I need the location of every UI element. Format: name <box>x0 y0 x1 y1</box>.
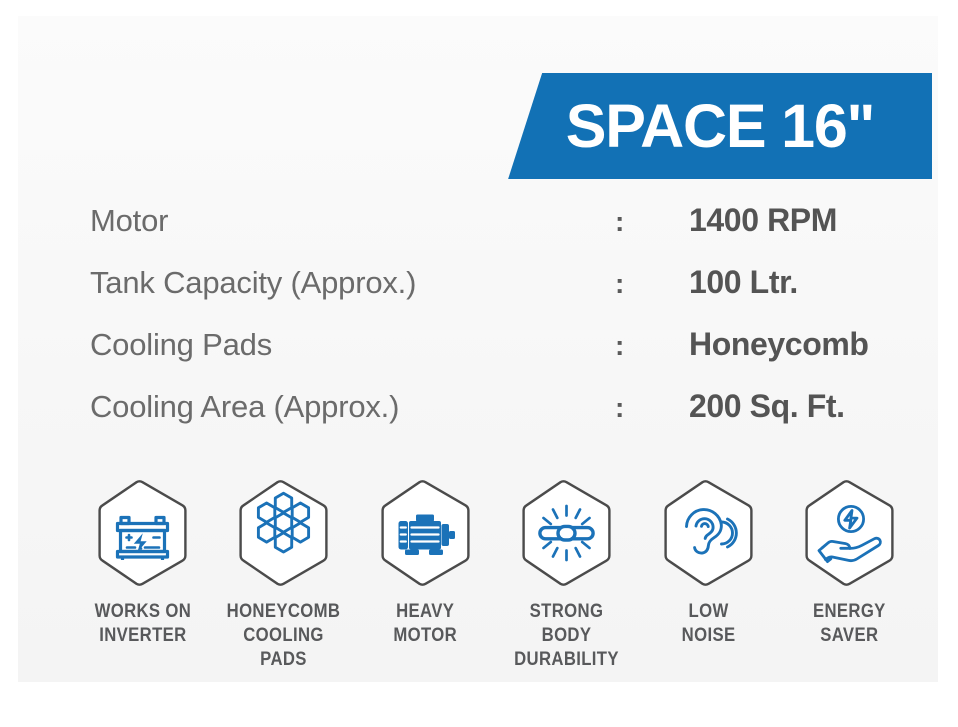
spec-value-cooling-pads: Honeycomb <box>689 326 930 363</box>
feature-strong-body-durability: STRONG BODY DURABILITY <box>500 479 633 671</box>
spec-label-cooling-area: Cooling Area (Approx.) <box>90 389 615 425</box>
feature-label: WORKS ON INVERTER <box>94 600 191 648</box>
spec-separator: : <box>615 330 689 362</box>
feature-works-on-inverter: WORKS ON INVERTER <box>76 479 209 671</box>
battery-inverter-icon <box>93 479 192 587</box>
feature-low-noise: LOW NOISE <box>642 479 775 671</box>
spec-separator: : <box>615 392 689 424</box>
feature-heavy-motor: HEAVY MOTOR <box>359 479 492 671</box>
feature-label: HEAVY MOTOR <box>393 600 457 648</box>
feature-honeycomb-cooling-pads: HONEYCOMB COOLING PADS <box>217 479 350 671</box>
feature-energy-saver: ENERGY SAVER <box>783 479 916 671</box>
feature-badge-row: WORKS ON INVERTER HONE <box>36 479 956 671</box>
spec-value-tank-capacity: 100 Ltr. <box>689 264 930 301</box>
spec-row: Motor : 1400 RPM <box>90 202 930 264</box>
product-title: SPACE 16" <box>490 73 932 179</box>
spec-value-cooling-area: 200 Sq. Ft. <box>689 388 930 425</box>
specification-list: Motor : 1400 RPM Tank Capacity (Approx.)… <box>90 202 930 450</box>
electric-motor-icon <box>376 479 475 587</box>
spec-row: Tank Capacity (Approx.) : 100 Ltr. <box>90 264 930 326</box>
feature-label: LOW NOISE <box>681 600 735 648</box>
spec-label-cooling-pads: Cooling Pads <box>90 327 615 363</box>
spec-separator: : <box>615 268 689 300</box>
ear-sound-icon <box>659 479 758 587</box>
spec-row: Cooling Area (Approx.) : 200 Sq. Ft. <box>90 388 930 450</box>
feature-label: ENERGY SAVER <box>813 600 886 648</box>
spec-row: Cooling Pads : Honeycomb <box>90 326 930 388</box>
spec-separator: : <box>615 206 689 238</box>
hand-energy-icon <box>800 479 899 587</box>
feature-label: HONEYCOMB COOLING PADS <box>225 600 342 671</box>
spec-value-motor: 1400 RPM <box>689 202 930 239</box>
chain-link-icon <box>517 479 616 587</box>
spec-label-motor: Motor <box>90 203 615 239</box>
product-title-banner: SPACE 16" <box>490 73 932 179</box>
honeycomb-icon <box>234 479 333 587</box>
feature-label: STRONG BODY DURABILITY <box>508 600 625 671</box>
spec-card: SPACE 16" Motor : 1400 RPM Tank Capacity… <box>18 16 938 682</box>
spec-label-tank-capacity: Tank Capacity (Approx.) <box>90 265 615 301</box>
